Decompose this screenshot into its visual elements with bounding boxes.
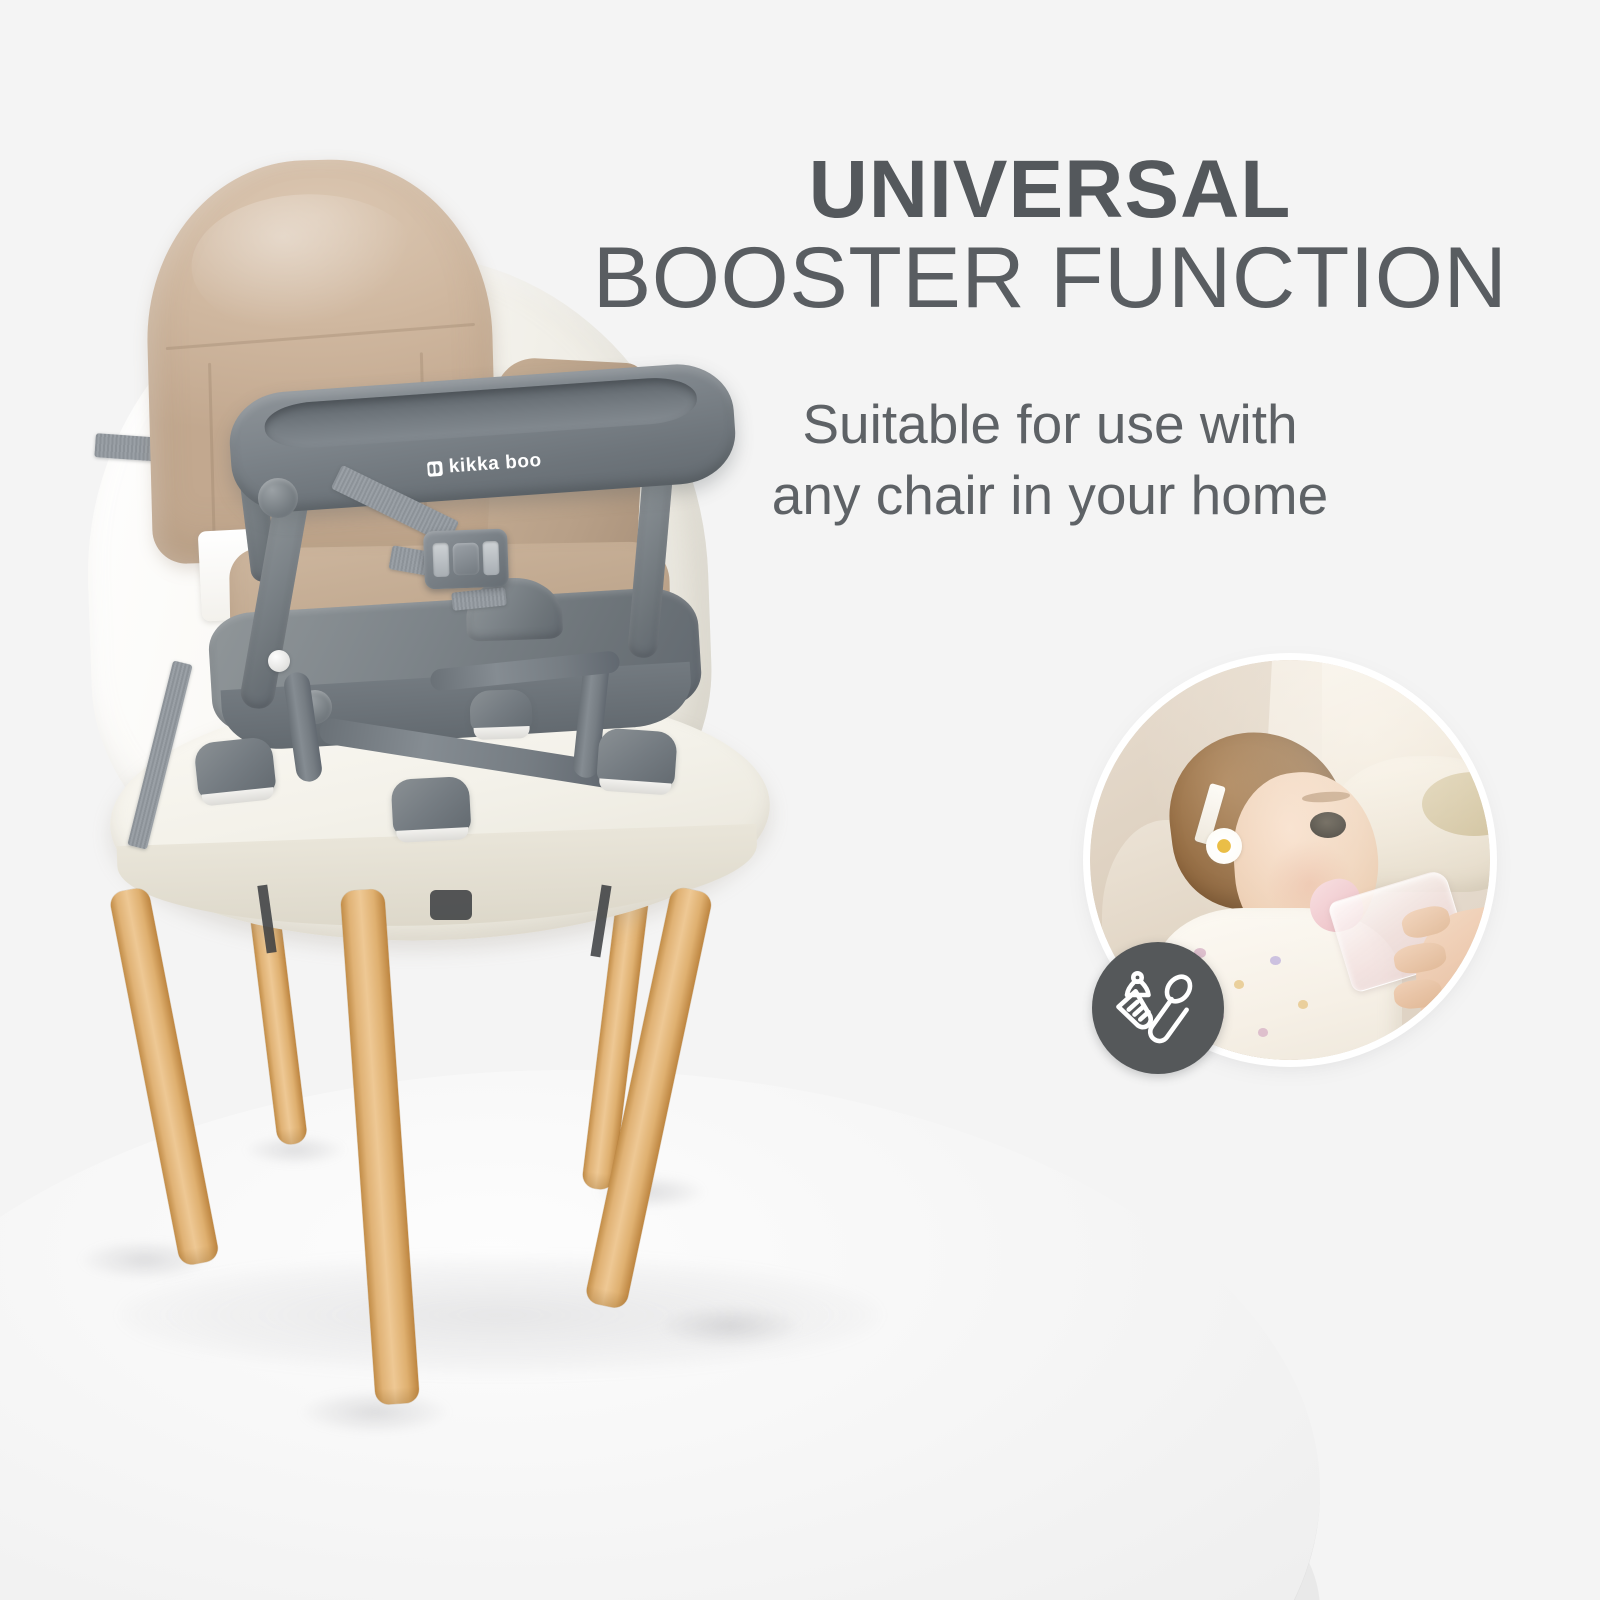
headline-secondary: BOOSTER FUNCTION	[591, 230, 1509, 326]
chair-leg-center-front	[340, 888, 420, 1405]
recline-hinge-knob	[258, 478, 298, 518]
base-foot-front-left	[193, 736, 276, 800]
cushion-seam-vertical-left	[208, 363, 215, 533]
subheadline: Suitable for use with any chair in your …	[600, 389, 1500, 532]
buckle-slot-left	[432, 543, 449, 578]
feeding-badge	[1092, 942, 1224, 1074]
marketing-copy: UNIVERSAL BOOSTER FUNCTION Suitable for …	[600, 150, 1500, 532]
headline-primary: UNIVERSAL	[600, 150, 1500, 230]
bottle-and-spoon-icon	[1112, 962, 1204, 1054]
subheadline-line-1: Suitable for use with	[600, 389, 1500, 461]
buckle-slot-right	[482, 541, 499, 576]
chair-attachment-strap-bottom	[127, 660, 192, 849]
base-foot-rear-right	[596, 727, 678, 788]
brand-logo-text: kikka boo	[448, 450, 542, 478]
brand-logo: kikka boo	[426, 450, 542, 480]
harness-buckle	[423, 529, 509, 590]
subheadline-line-2: any chair in your home	[600, 460, 1500, 532]
chair-leg-front-left	[108, 886, 220, 1267]
product-marketing-banner: kikka boo UNIVERSAL BOOSTER FUNCTION	[0, 0, 1600, 1600]
release-button-upper	[268, 650, 290, 672]
cushion-highlight	[190, 191, 424, 337]
base-foot-rear-left	[469, 689, 532, 733]
kikkaboo-logo-mark	[426, 460, 442, 476]
base-foot-front-right	[391, 776, 472, 836]
leg-shadow-center-front	[300, 1390, 450, 1434]
leg-shadow-front-right	[660, 1305, 800, 1347]
